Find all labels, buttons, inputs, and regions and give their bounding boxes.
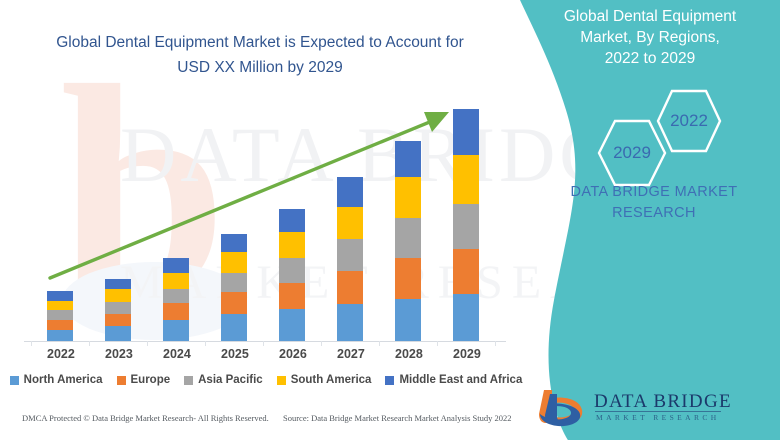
legend-item-asia-pacific[interactable]: Asia Pacific [184,374,263,386]
infographic-page: b DATA BRIDGE MARKET RESEARCH Global Den… [0,0,780,440]
x-axis-tick [31,341,32,346]
bar-2027 [337,177,363,341]
x-axis-label-2022: 2022 [47,347,73,361]
bar-segment-2029-north-america [453,294,479,341]
panel-brand-line1: DATA BRIDGE MARKET [540,182,768,203]
bar-segment-2025-north-america [221,314,247,341]
legend-label: Asia Pacific [198,374,263,386]
legend-swatch-icon [277,376,286,385]
legend-swatch-icon [10,376,19,385]
hexagon-2029: 2029 [596,118,668,188]
bar-segment-2029-asia-pacific [453,204,479,249]
x-axis-tick [263,341,264,346]
bar-2023 [105,279,131,341]
bar-segment-2022-europe [47,320,73,330]
bar-segment-2026-south-america [279,232,305,258]
bar-segment-2027-north-america [337,304,363,341]
bar-segment-2023-europe [105,314,131,326]
bar-segment-2023-asia-pacific [105,302,131,314]
legend-label: Middle East and Africa [399,374,522,386]
bar-2029 [453,109,479,341]
x-axis-label-2027: 2027 [337,347,363,361]
bar-segment-2026-europe [279,283,305,310]
x-axis-label-2028: 2028 [395,347,421,361]
x-axis-tick [205,341,206,346]
panel-heading-line3: 2022 to 2029 [530,48,770,69]
x-axis-label-2025: 2025 [221,347,247,361]
bar-segment-2027-asia-pacific [337,239,363,271]
bar-segment-2027-middle-east-and-africa [337,177,363,207]
bar-segment-2024-north-america [163,320,189,341]
bar-2028 [395,141,421,341]
x-axis-tick [147,341,148,346]
bar-segment-2028-europe [395,258,421,300]
legend-swatch-icon [385,376,394,385]
legend-label: South America [291,374,372,386]
bar-segment-2025-europe [221,292,247,314]
bar-segment-2024-south-america [163,273,189,290]
bar-segment-2024-asia-pacific [163,289,189,303]
bar-segment-2026-asia-pacific [279,258,305,283]
legend-swatch-icon [117,376,126,385]
legend-label: North America [24,374,103,386]
bar-segment-2024-middle-east-and-africa [163,258,189,273]
logo-mark-icon [536,386,588,428]
hexagon-2029-label: 2029 [596,118,668,188]
bar-segment-2028-asia-pacific [395,218,421,258]
footer-copyright: DMCA Protected © Data Bridge Market Rese… [22,413,269,423]
bar-segment-2028-middle-east-and-africa [395,141,421,178]
bar-2026 [279,209,305,341]
bar-segment-2027-europe [337,271,363,305]
legend-label: Europe [131,374,171,386]
legend-item-north-america[interactable]: North America [10,374,103,386]
bar-segment-2023-north-america [105,326,131,341]
panel-heading-line1: Global Dental Equipment [530,6,770,27]
bar-segment-2022-north-america [47,330,73,341]
footer-source: Source: Data Bridge Market Research Mark… [283,413,512,423]
panel-heading: Global Dental Equipment Market, By Regio… [530,6,770,69]
legend-item-middle-east-and-africa[interactable]: Middle East and Africa [385,374,522,386]
x-axis-tick [495,341,496,346]
x-axis-tick [437,341,438,346]
x-axis-tick [89,341,90,346]
bar-segment-2028-north-america [395,299,421,341]
x-axis-label-2024: 2024 [163,347,189,361]
logo-name: DATA BRIDGE [594,391,732,413]
legend-item-europe[interactable]: Europe [117,374,171,386]
panel-brand: DATA BRIDGE MARKET RESEARCH [540,182,768,224]
data-bridge-logo: DATA BRIDGE MARKET RESEARCH [536,386,736,430]
bar-segment-2026-middle-east-and-africa [279,209,305,232]
bar-2022 [47,291,73,341]
bar-segment-2026-north-america [279,309,305,341]
x-axis-tick [379,341,380,346]
legend-swatch-icon [184,376,193,385]
chart-legend: North AmericaEuropeAsia PacificSouth Ame… [24,374,508,386]
growth-trend-arrow [0,0,520,345]
x-axis-tick [321,341,322,346]
logo-divider [595,411,721,412]
stacked-bar-chart: 20222023202420252026202720282029 [0,0,520,345]
bar-segment-2025-asia-pacific [221,273,247,293]
x-axis-label-2026: 2026 [279,347,305,361]
bar-segment-2022-middle-east-and-africa [47,291,73,301]
x-axis-line [24,341,506,342]
bar-segment-2028-south-america [395,177,421,218]
bar-2024 [163,258,189,341]
x-axis-label-2023: 2023 [105,347,131,361]
bar-segment-2029-south-america [453,155,479,205]
bar-segment-2023-middle-east-and-africa [105,279,131,290]
bar-2025 [221,234,247,341]
bar-segment-2022-asia-pacific [47,310,73,320]
bar-segment-2022-south-america [47,301,73,310]
panel-brand-line2: RESEARCH [540,203,768,224]
panel-heading-line2: Market, By Regions, [530,27,770,48]
bar-segment-2025-south-america [221,252,247,273]
bar-segment-2024-europe [163,303,189,320]
bar-segment-2027-south-america [337,207,363,239]
x-axis-label-2029: 2029 [453,347,479,361]
logo-tagline: MARKET RESEARCH [596,413,720,422]
legend-item-south-america[interactable]: South America [277,374,372,386]
bar-segment-2025-middle-east-and-africa [221,234,247,252]
bar-segment-2029-europe [453,249,479,295]
bar-segment-2029-middle-east-and-africa [453,109,479,155]
bar-segment-2023-south-america [105,289,131,302]
